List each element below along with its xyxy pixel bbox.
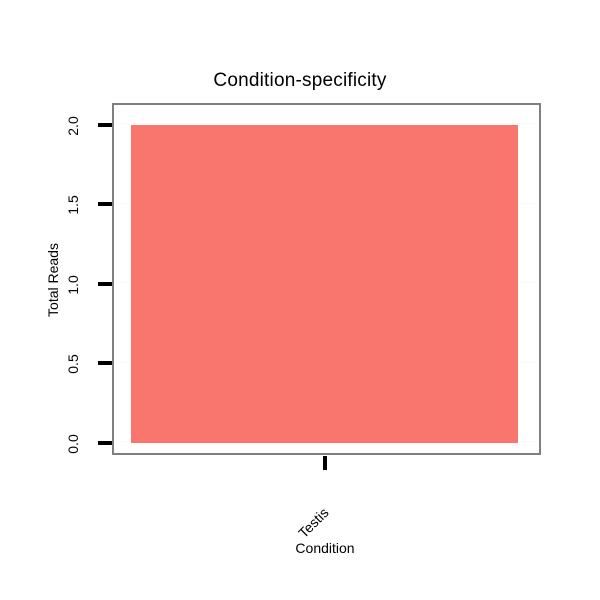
x-axis-title: Condition (225, 540, 425, 556)
y-tick-mark-3 (98, 202, 112, 206)
bar-testis[interactable] (131, 125, 518, 443)
y-tick-mark-4 (98, 123, 112, 127)
y-tick-label-3: 1.5 (66, 188, 80, 222)
chart-canvas: Condition-specificity Total Reads 0.0 0.… (0, 0, 600, 600)
plot-area (114, 105, 539, 453)
y-tick-label-0: 0.0 (66, 427, 80, 461)
gridline-4 (114, 123, 539, 124)
plot-panel (112, 103, 541, 455)
x-tick-mark-0 (323, 456, 327, 470)
y-tick-mark-0 (98, 441, 112, 445)
y-tick-label-2: 1.0 (66, 268, 80, 302)
y-tick-label-4: 2.0 (66, 109, 80, 143)
y-tick-mark-2 (98, 282, 112, 286)
y-tick-mark-1 (98, 361, 112, 365)
y-axis-title: Total Reads (45, 225, 61, 335)
chart-title: Condition-specificity (0, 70, 600, 92)
y-tick-label-1: 0.5 (66, 347, 80, 381)
